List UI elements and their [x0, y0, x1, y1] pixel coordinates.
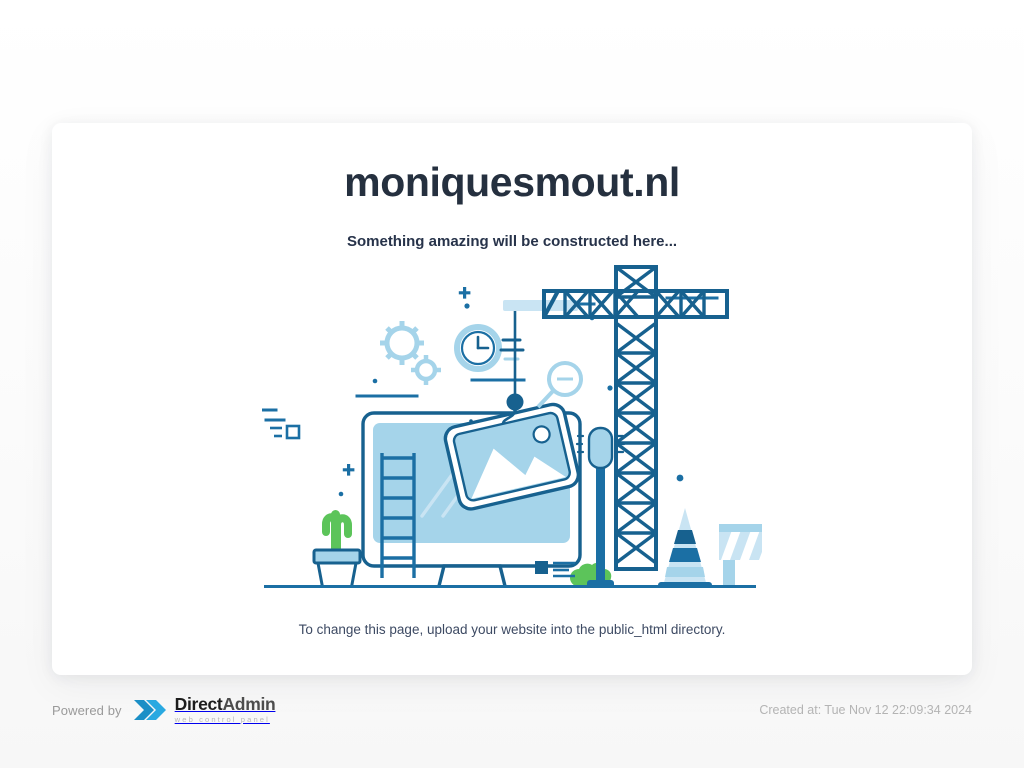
clock-speed-lines-icon: [501, 340, 523, 359]
crane-trolley-icon: [503, 300, 578, 311]
road-barrier-icon: [719, 524, 762, 588]
directadmin-logo-link[interactable]: DirectAdmin web control panel: [133, 696, 276, 724]
traffic-cone-icon: [658, 508, 712, 588]
widget-glyph-right-icon: [535, 561, 575, 576]
illustration-container: [52, 250, 972, 622]
powered-by-block: Powered by DirectAdmin web control panel: [52, 696, 275, 724]
widget-glyph-left-icon: [270, 426, 299, 438]
powered-by-label: Powered by: [52, 703, 122, 718]
logo-word-direct: Direct: [175, 694, 223, 714]
logo-word-admin: Admin: [222, 694, 275, 714]
crane-cable-icon: [503, 308, 524, 424]
page-title: moniquesmout.nl: [344, 123, 680, 207]
directadmin-tagline: web control panel: [175, 716, 276, 724]
page-background: moniquesmout.nl Something amazing will b…: [0, 0, 1024, 768]
upload-hint-text: To change this page, upload your website…: [299, 622, 726, 637]
content-card: moniquesmout.nl Something amazing will b…: [52, 123, 972, 675]
directadmin-wordmark: DirectAdmin: [175, 696, 276, 714]
tagline-text: Something amazing will be constructed he…: [347, 207, 677, 250]
under-construction-illustration: [262, 258, 762, 588]
magnifier-icon: [538, 363, 581, 407]
cactus-plant-icon: [314, 510, 360, 588]
page-footer: Powered by DirectAdmin web control panel…: [52, 690, 972, 730]
directadmin-chevron-icon: [133, 696, 169, 724]
gears-icon: [380, 321, 441, 385]
clock-icon: [457, 327, 499, 369]
created-at-text: Created at: Tue Nov 12 22:09:34 2024: [759, 703, 972, 717]
